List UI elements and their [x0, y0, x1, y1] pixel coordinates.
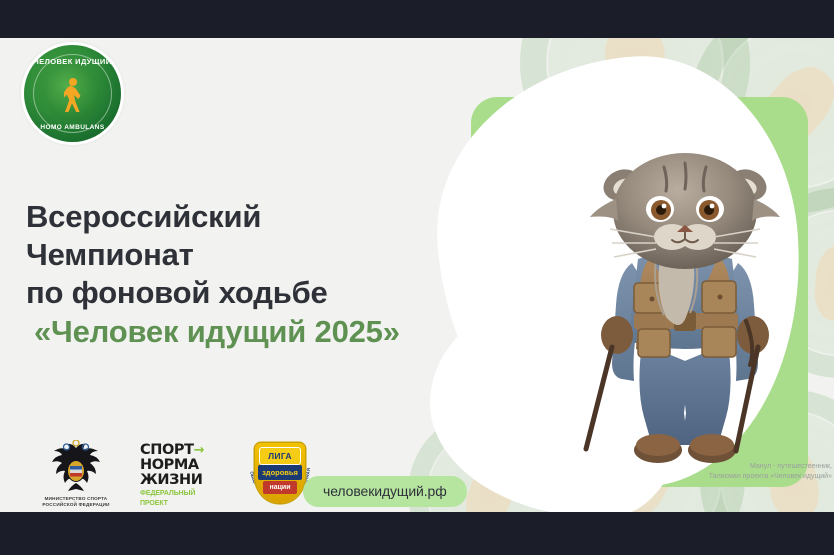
letterbox-bottom-bar — [0, 512, 834, 555]
website-url-pill[interactable]: человекидущий.рф — [303, 476, 467, 507]
headline-line-1: Всероссийский — [26, 198, 486, 236]
liga-shield: ЛИГА здоровья нации — [255, 443, 305, 503]
walking-person-icon — [60, 78, 86, 112]
logo-text-top: ЧЕЛОВЕК ИДУЩИЙ — [24, 57, 121, 66]
headline-line-3: по фоновой ходьбе — [26, 274, 486, 312]
mascot-caption: Манул - путешественник, Талисман проекта… — [600, 462, 832, 482]
slide-canvas: ЧЕЛОВЕК ИДУЩИЙ HOMO AMBULANS Всероссийск… — [0, 38, 834, 512]
project-logo-badge: ЧЕЛОВЕК ИДУЩИЙ HOMO AMBULANS — [24, 45, 121, 142]
snz-sub-line-1: ФЕДЕРАЛЬНЫЙ — [140, 490, 226, 498]
snz-line-1: СПОРТ — [140, 442, 194, 458]
mascot-caption-line-2: Талисман проекта «Человек идущий» — [600, 472, 832, 482]
mascot-caption-line-1: Манул - путешественник, — [600, 462, 832, 472]
snz-line-3: ЖИЗНИ — [140, 473, 226, 488]
liga-band-bot: нации — [263, 481, 297, 494]
headline-line-4-accent: «Человек идущий 2025» — [26, 312, 486, 352]
partner-logos: МИНИСТЕРСТВО СПОРТА РОССИЙСКОЙ ФЕДЕРАЦИИ… — [30, 428, 316, 508]
partner-ministry-of-sport: МИНИСТЕРСТВО СПОРТА РОССИЙСКОЙ ФЕДЕРАЦИИ — [30, 440, 122, 508]
headline-block: Всероссийский Чемпионат по фоновой ходьб… — [26, 198, 486, 352]
ministry-caption-line-2: РОССИЙСКОЙ ФЕДЕРАЦИИ — [30, 502, 122, 508]
manul-mascot-illustration — [560, 133, 810, 463]
snz-line-2: НОРМА — [140, 458, 226, 473]
arrow-right-icon: → — [194, 443, 205, 458]
letterbox-top-bar — [0, 0, 834, 38]
snz-line-1-row: СПОРТ→ — [140, 443, 226, 458]
liga-band-top: ЛИГА — [259, 447, 301, 465]
partner-sport-norma-zhizni: СПОРТ→ НОРМА ЖИЗНИ ФЕДЕРАЛЬНЫЙ ПРОЕКТ — [140, 443, 226, 508]
headline-line-2: Чемпионат — [26, 236, 486, 274]
liga-band-mid: здоровья — [258, 465, 302, 480]
snz-sub-line-2: ПРОЕКТ — [140, 500, 226, 508]
logo-text-bottom: HOMO AMBULANS — [24, 124, 121, 131]
double-headed-eagle-icon — [46, 440, 106, 492]
